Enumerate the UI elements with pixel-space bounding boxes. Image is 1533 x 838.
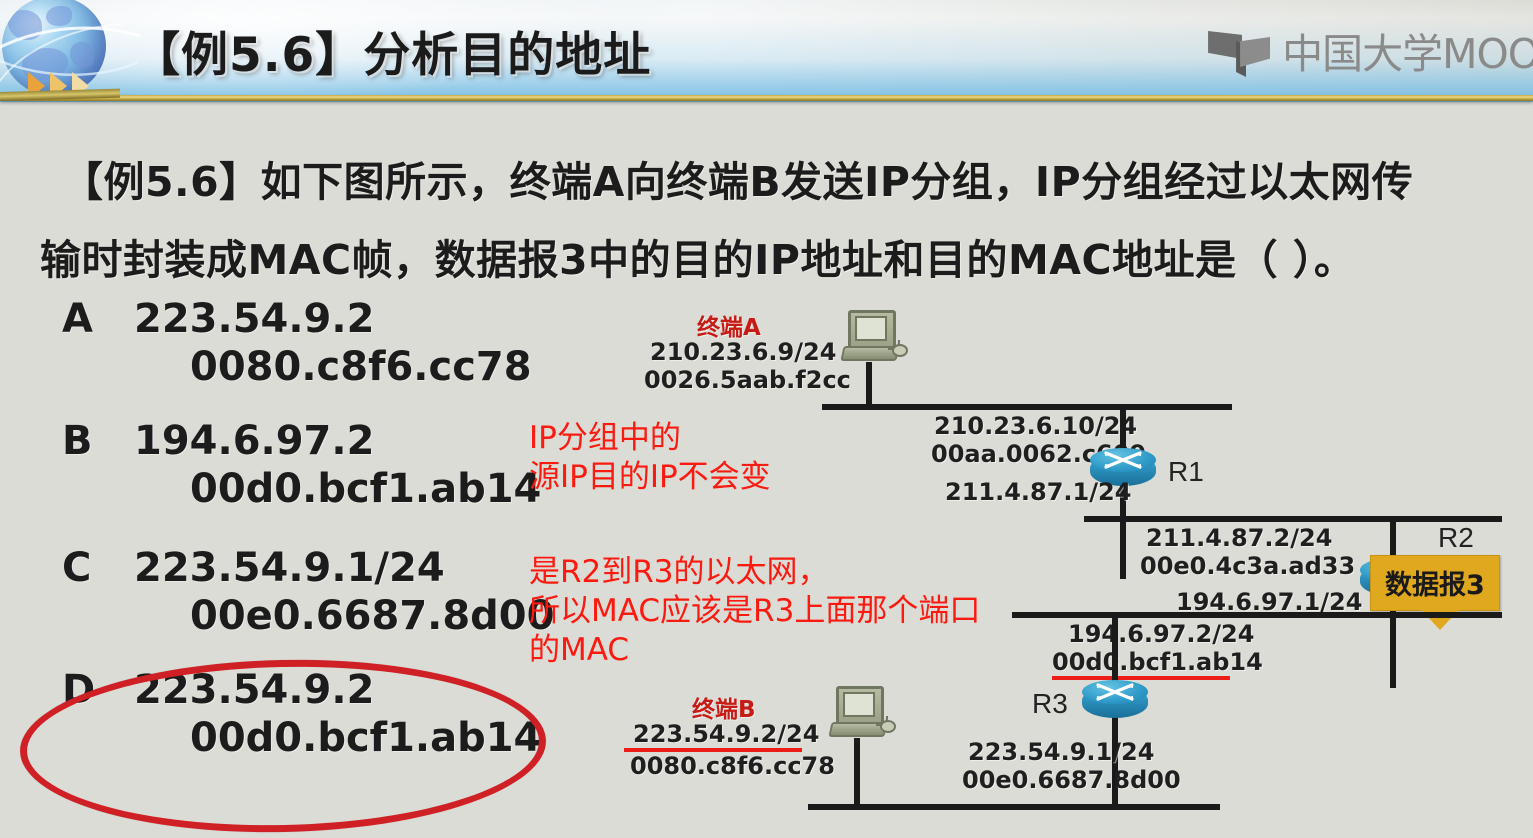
page-title: 【例5.6】分析目的地址 [133,16,651,85]
packet-callout: 数据报3 [1370,555,1500,611]
terminal-a-mac: 0026.5aab.f2cc [644,366,851,394]
terminal-a-ip: 210.23.6.9/24 [650,338,836,366]
terminal-b-label: 终端B [692,690,756,724]
slide-header: 【例5.6】分析目的地址 中国大学MOO [0,0,1533,102]
router-icon-r3 [1082,680,1148,726]
r2-upper-ip: 211.4.87.2/24 [1146,524,1332,552]
question-line-2: 输时封装成MAC帧，数据报3中的目的IP地址和目的MAC地址是（ ）。 [40,226,1355,286]
option-a-letter: A [62,296,93,342]
r1-lower-ip: 211.4.87.1/24 [945,478,1131,506]
r3-upper-ip: 194.6.97.2/24 [1068,620,1254,648]
wire-terminal-b-drop [854,738,860,808]
option-c-ip: 223.54.9.1/24 [134,545,445,591]
option-b-ip: 194.6.97.2 [134,418,374,464]
r2-name: R2 [1438,522,1474,554]
terminal-b-mac: 0080.c8f6.cc78 [630,752,835,780]
option-b-letter: B [62,418,93,464]
r2-upper-mac: 00e0.4c3a.ad33 [1140,552,1355,580]
r3-upper-mac: 00d0.bcf1.ab14 [1052,648,1263,676]
wire-terminal-a-drop [866,362,872,407]
r1-upper-ip: 210.23.6.10/24 [934,412,1137,440]
network-diagram: 终端A 210.23.6.9/24 0026.5aab.f2cc 210.23.… [600,290,1533,837]
r1-name: R1 [1168,456,1204,488]
option-b-mac: 00d0.bcf1.ab14 [190,466,541,512]
mooc-logo: 中国大学MOO [1208,26,1533,74]
r3-lower-ip: 223.54.9.1/24 [968,738,1154,766]
lan-bus-1 [822,404,1232,410]
option-c-mac: 00e0.6687.8d00 [190,593,554,639]
r3-lower-mac: 00e0.6687.8d00 [962,766,1181,794]
terminal-b-ip: 223.54.9.2/24 [633,720,819,748]
r3-name: R3 [1032,688,1068,720]
mooc-logo-text: 中国大学MOO [1282,20,1533,80]
lan-bus-3 [1012,612,1502,618]
option-a-mac: 0080.c8f6.cc78 [190,344,532,390]
correct-answer-circle [18,655,547,838]
header-divider [0,95,1533,101]
option-c-letter: C [62,545,91,591]
book-logo-icon [1208,29,1274,71]
terminal-a-label: 终端A [697,308,761,342]
slide-canvas: 【例5.6】分析目的地址 中国大学MOO 【例5.6】如下图所示，终端A向终端B… [0,0,1533,837]
lan-bus-4 [808,804,1220,810]
question-line-1: 【例5.6】如下图所示，终端A向终端B发送IP分组，IP分组经过以太网传 [62,148,1413,208]
option-a-ip: 223.54.9.2 [134,296,374,342]
